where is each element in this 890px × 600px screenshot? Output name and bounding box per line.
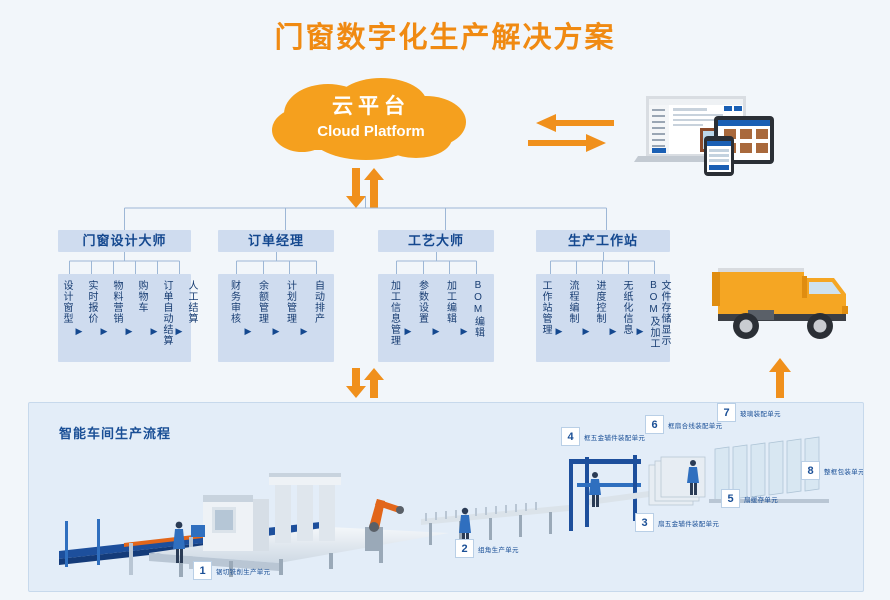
module-items: 财务审核 ▶ 余额管理 ▶ 计划管理 ▶ 自动排产 bbox=[218, 274, 334, 362]
workshop-unit[interactable]: 3 扇五金辅件装配单元 bbox=[635, 513, 719, 532]
module-item[interactable]: 流程编制 bbox=[563, 274, 582, 362]
sync-arrows bbox=[528, 112, 614, 154]
flow-arrow-icon: ▶ bbox=[300, 274, 308, 362]
module-item[interactable]: 购物车 bbox=[133, 274, 150, 362]
module-item[interactable]: 物料营销 bbox=[108, 274, 125, 362]
flow-arrow-icon: ▶ bbox=[150, 274, 158, 362]
unit-label: 玻璃装配单元 bbox=[740, 408, 781, 418]
page-title: 门窗数字化生产解决方案 bbox=[0, 14, 890, 56]
smart-workshop-panel: 智能车间生产流程 bbox=[28, 402, 864, 592]
flow-arrow-icon: ▶ bbox=[125, 274, 133, 362]
module-item[interactable]: 工作站管理 bbox=[536, 274, 555, 362]
module-door-window-design-master[interactable]: 门窗设计大师 设计窗型 ▶ 实时报价 ▶ 物料营销 ▶ 购物车 ▶ 订单自动结算 bbox=[58, 230, 191, 279]
module-item[interactable]: BOM编辑 bbox=[468, 274, 488, 362]
phone-icon bbox=[704, 136, 734, 176]
unit-number: 6 bbox=[645, 415, 664, 434]
module-items: 工作站管理 ▶ 流程编制 ▶ 进度控制 ▶ 无纸化信息 ▶ BOM及加工 文件存… bbox=[536, 274, 670, 362]
module-item[interactable]: 计划管理 bbox=[280, 274, 300, 362]
module-item-line-b: 文件存储显示 bbox=[659, 280, 670, 346]
module-item[interactable]: 无纸化信息 bbox=[617, 274, 636, 362]
unit-number: 1 bbox=[193, 561, 212, 580]
module-item[interactable]: 加工信息管理 bbox=[384, 274, 404, 362]
workshop-unit[interactable]: 5 扇缓存单元 bbox=[721, 489, 778, 508]
unit-label: 整框包装单元 bbox=[824, 466, 864, 476]
unit-label: 框五金辅件装配单元 bbox=[584, 432, 645, 442]
module-workshop-arrows bbox=[344, 368, 388, 398]
module-item[interactable]: 进度控制 bbox=[590, 274, 609, 362]
unit-label: 扇缓存单元 bbox=[744, 494, 778, 504]
flow-arrow-icon: ▶ bbox=[609, 274, 617, 362]
workshop-unit[interactable]: 7 玻璃装配单元 bbox=[717, 403, 781, 422]
module-item[interactable]: 参数设置 bbox=[412, 274, 432, 362]
unit-label: 锯切铣削生产单元 bbox=[216, 566, 270, 576]
module-item[interactable]: 人工结算 bbox=[183, 274, 200, 362]
module-items: 设计窗型 ▶ 实时报价 ▶ 物料营销 ▶ 购物车 ▶ 订单自动结算 ▶ 人工结算 bbox=[58, 274, 191, 362]
unit-number: 5 bbox=[721, 489, 740, 508]
unit-number: 4 bbox=[561, 427, 580, 446]
cloud-icon bbox=[266, 78, 476, 166]
module-item-line-a: BOM及加工 bbox=[648, 280, 659, 349]
module-craft-master[interactable]: 工艺大师 加工信息管理 ▶ 参数设置 ▶ 加工编辑 ▶ BOM编辑 bbox=[378, 230, 494, 279]
delivery-truck-icon bbox=[706, 258, 872, 348]
flow-arrow-icon: ▶ bbox=[555, 274, 563, 362]
flow-arrow-icon: ▶ bbox=[175, 274, 183, 362]
arrow-down-icon bbox=[346, 368, 366, 398]
workshop-unit[interactable]: 6 框扇合线装配单元 bbox=[645, 415, 722, 434]
flow-arrow-icon: ▶ bbox=[272, 274, 280, 362]
flow-arrow-icon: ▶ bbox=[636, 274, 644, 362]
unit-number: 7 bbox=[717, 403, 736, 422]
module-title: 生产工作站 bbox=[536, 230, 670, 252]
module-production-workstation[interactable]: 生产工作站 工作站管理 ▶ 流程编制 ▶ 进度控制 ▶ 无纸化信息 ▶ bbox=[536, 230, 670, 279]
module-item[interactable]: 财务审核 bbox=[224, 274, 244, 362]
module-item[interactable]: 加工编辑 bbox=[440, 274, 460, 362]
module-leaf-connectors bbox=[218, 252, 334, 274]
module-leaf-connectors bbox=[378, 252, 494, 274]
modules-row: 门窗设计大师 设计窗型 ▶ 实时报价 ▶ 物料营销 ▶ 购物车 ▶ 订单自动结算 bbox=[58, 230, 670, 362]
unit-label: 组角生产单元 bbox=[478, 544, 519, 554]
module-items: 加工信息管理 ▶ 参数设置 ▶ 加工编辑 ▶ BOM编辑 bbox=[378, 274, 494, 362]
module-item[interactable]: 余额管理 bbox=[252, 274, 272, 362]
solution-diagram: 门窗数字化生产解决方案 云平台 Cloud Platform bbox=[0, 0, 890, 600]
module-item[interactable]: 自动排产 bbox=[308, 274, 328, 362]
arrow-right-icon bbox=[528, 134, 606, 152]
unit-number: 3 bbox=[635, 513, 654, 532]
devices-illustration bbox=[628, 84, 778, 176]
flow-arrow-icon: ▶ bbox=[404, 274, 412, 362]
workshop-unit[interactable]: 8 整框包装单元 bbox=[801, 461, 864, 480]
arrow-up-icon bbox=[364, 368, 384, 398]
flow-arrow-icon: ▶ bbox=[75, 274, 83, 362]
module-order-manager[interactable]: 订单经理 财务审核 ▶ 余额管理 ▶ 计划管理 ▶ 自动排产 bbox=[218, 230, 334, 279]
workshop-unit[interactable]: 2 组角生产单元 bbox=[455, 539, 519, 558]
flow-arrow-icon: ▶ bbox=[460, 274, 468, 362]
module-leaf-connectors bbox=[536, 252, 670, 274]
module-title: 工艺大师 bbox=[378, 230, 494, 252]
flow-arrow-icon: ▶ bbox=[100, 274, 108, 362]
workshop-unit[interactable]: 4 框五金辅件装配单元 bbox=[561, 427, 645, 446]
module-title: 订单经理 bbox=[218, 230, 334, 252]
arrow-up-icon bbox=[769, 358, 791, 398]
unit-label: 框扇合线装配单元 bbox=[668, 420, 722, 430]
truck-up-arrow bbox=[768, 358, 792, 398]
module-item[interactable]: BOM及加工 文件存储显示 bbox=[644, 274, 674, 362]
flow-arrow-icon: ▶ bbox=[432, 274, 440, 362]
flow-arrow-icon: ▶ bbox=[244, 274, 252, 362]
module-item[interactable]: 实时报价 bbox=[83, 274, 100, 362]
unit-number: 2 bbox=[455, 539, 474, 558]
flow-arrow-icon: ▶ bbox=[582, 274, 590, 362]
module-leaf-connectors bbox=[58, 252, 191, 274]
unit-label: 扇五金辅件装配单元 bbox=[658, 518, 719, 528]
module-item[interactable]: 订单自动结算 bbox=[158, 274, 175, 362]
workshop-unit[interactable]: 1 锯切铣削生产单元 bbox=[193, 561, 270, 580]
module-item[interactable]: 设计窗型 bbox=[58, 274, 75, 362]
cloud-platform-node: 云平台 Cloud Platform bbox=[266, 78, 476, 166]
unit-number: 8 bbox=[801, 461, 820, 480]
arrow-left-icon bbox=[536, 114, 614, 132]
module-title: 门窗设计大师 bbox=[58, 230, 191, 252]
